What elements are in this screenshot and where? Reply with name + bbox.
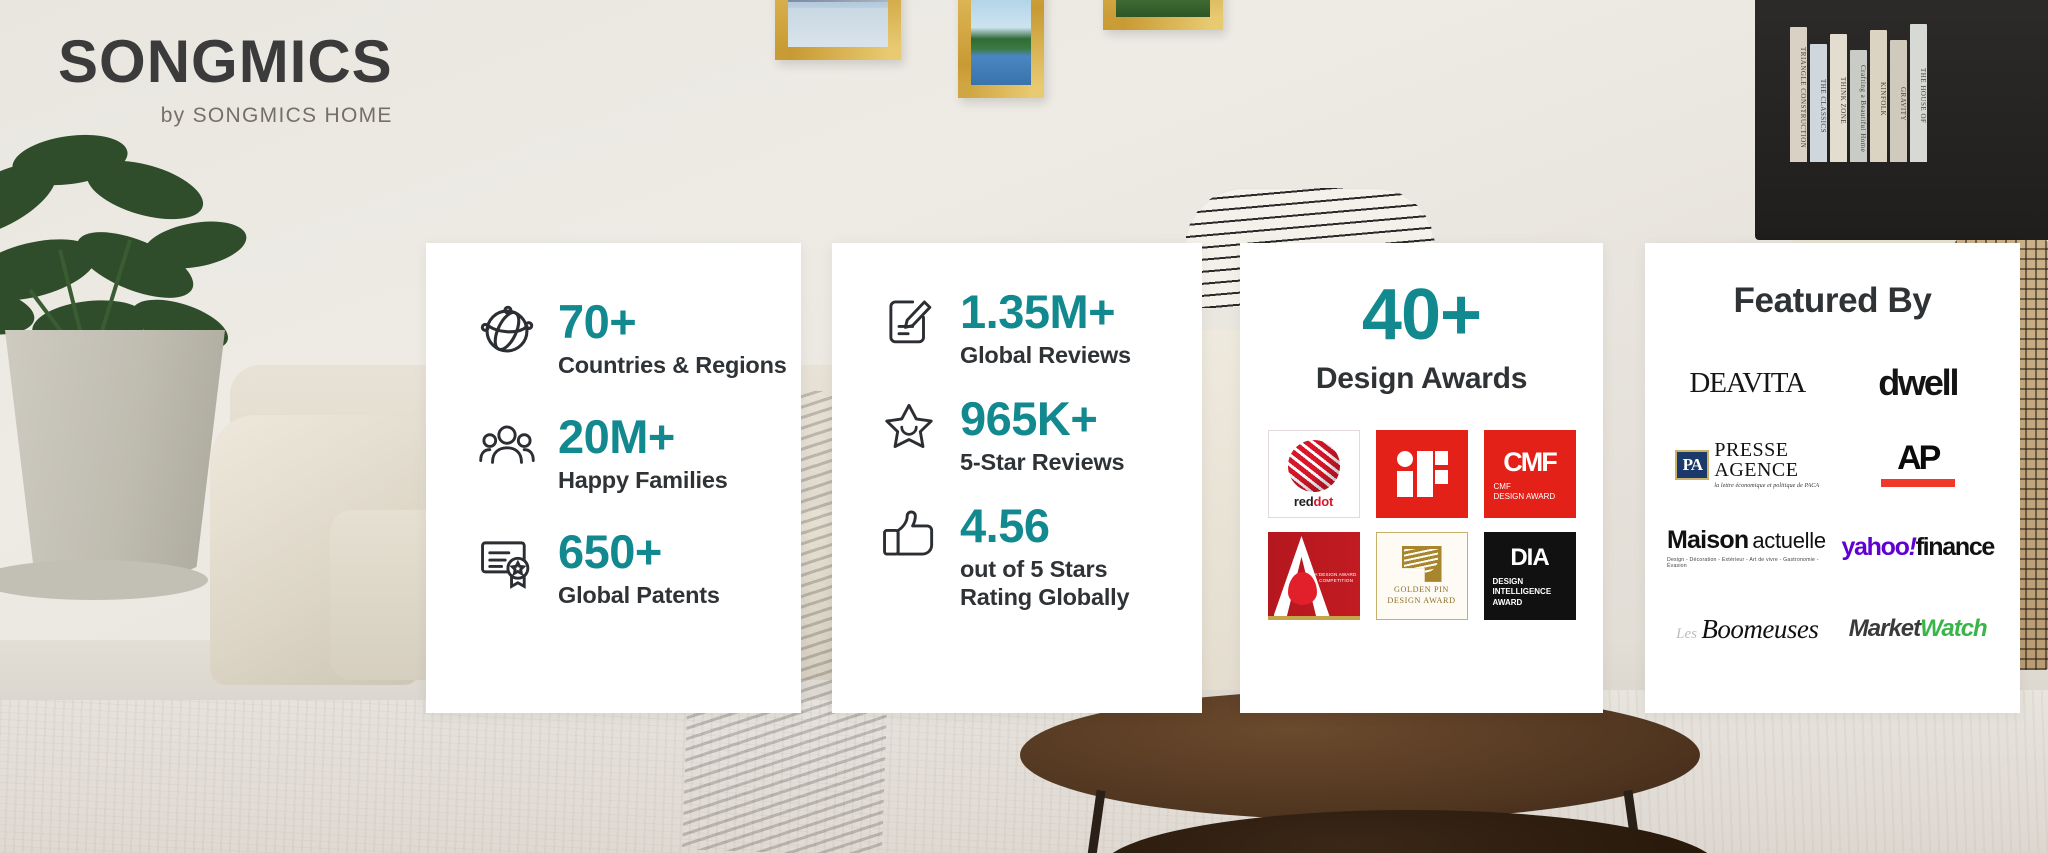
stat-text-families: 20M+ Happy Families: [558, 413, 728, 494]
award-logo-cmf: CMF CMF DESIGN AWARD: [1484, 430, 1576, 518]
maison-actuelle-wordmark: Maison actuelle: [1667, 526, 1828, 555]
featured-logo-marketwatch: MarketWatch: [1849, 601, 1987, 657]
featured-logo-ap: AP: [1881, 437, 1955, 493]
bookshelf-book: KINFOLK: [1870, 30, 1887, 162]
les-word: Les: [1676, 626, 1697, 642]
brand-logo-text: SONGMICS: [58, 32, 393, 92]
yahoo-finance-wordmark: yahoo!finance: [1841, 533, 1994, 562]
framed-seascape-photo: [788, 0, 888, 47]
bookshelf-book: THE CLASSICS: [1810, 44, 1827, 162]
stat-text-countries: 70+ Countries & Regions: [558, 298, 787, 379]
wall-picture-frame-2: [958, 0, 1044, 98]
boomeuses-word: Boomeuses: [1701, 614, 1818, 644]
golden-pin-caption: GOLDEN PIN DESIGN AWARD: [1387, 585, 1455, 606]
stat-label: Global Patents: [558, 581, 720, 609]
actuelle-word: actuelle: [1752, 528, 1825, 554]
award-logo-golden-pin: GOLDEN PIN DESIGN AWARD: [1376, 532, 1468, 620]
awards-logo-grid: reddot CMF CMF DESIGN AWARD: [1240, 430, 1603, 620]
cmf-subtitle: CMF DESIGN AWARD: [1484, 482, 1576, 502]
golden-pin-mark-icon: [1402, 546, 1442, 582]
award-logo-a-design: A'DESIGN AWARD & COMPETITION: [1268, 532, 1360, 620]
wall-picture-frame-3: [1103, 0, 1223, 30]
reddot-word-red: red: [1294, 494, 1314, 509]
songmics-stats-banner: TRIANGLE CONSTRUCTIONTHE CLASSICSTHINK Z…: [0, 0, 2048, 853]
presse-agence-lockup: PA PRESSE AGENCE la lettre économique et…: [1675, 441, 1819, 488]
featured-logo-grid: DEAVITA dwell PA PRESSE AGENCE la lettre…: [1645, 355, 2020, 657]
reddot-sphere-icon: [1288, 440, 1340, 492]
stat-label: Countries & Regions: [558, 351, 787, 379]
card-featured-by: Featured By DEAVITA dwell PA PRESSE AGEN…: [1645, 243, 2020, 713]
dia-line1: DESIGN: [1493, 577, 1524, 586]
golden-pin-line3: DESIGN: [1387, 596, 1421, 605]
framed-hillside-photo: [1116, 0, 1210, 17]
award-logo-if-design: [1376, 430, 1468, 518]
thumbs-up-icon: [880, 506, 938, 564]
stat-label-line2: Rating Globally: [960, 584, 1129, 610]
dia-subtitle: DESIGN INTELLIGENCE AWARD: [1484, 577, 1576, 608]
awards-heading-block: 40+ Design Awards: [1240, 243, 1603, 396]
card-company-stats: 70+ Countries & Regions: [426, 243, 801, 713]
dwell-wordmark: dwell: [1878, 362, 1957, 404]
a-design-line1: A'DESIGN AWARD: [1314, 572, 1356, 577]
deavita-wordmark: DEAVITA: [1689, 367, 1805, 400]
certificate-badge-icon: [478, 532, 536, 590]
stat-value: 965K+: [960, 395, 1124, 443]
stat-label: out of 5 Stars Rating Globally: [960, 555, 1129, 611]
if-mark-icon: [1397, 451, 1447, 497]
stat-label: Happy Families: [558, 466, 728, 494]
stat-item-families: 20M+ Happy Families: [478, 413, 801, 494]
wall-picture-frame-1: [775, 0, 901, 60]
brand-logo-tagline: by SONGMICS HOME: [58, 104, 393, 128]
presse-agence-text: PRESSE AGENCE la lettre économique et po…: [1714, 441, 1819, 488]
reddot-word-dot: dot: [1314, 494, 1334, 509]
stat-value: 70+: [558, 298, 787, 346]
marketwatch-wordmark: MarketWatch: [1849, 615, 1987, 643]
dia-line2: INTELLIGENCE: [1493, 587, 1552, 596]
golden-pin-line2: PIN: [1434, 585, 1449, 594]
stats-cards-row: 70+ Countries & Regions: [0, 243, 2048, 713]
stat-value: 20M+: [558, 413, 728, 461]
cmf-wordmark: CMF: [1503, 447, 1555, 478]
bookshelf-book: THINK ZONE: [1830, 34, 1847, 162]
watch-word: Watch: [1920, 615, 1987, 642]
a-design-caption: A'DESIGN AWARD & COMPETITION: [1314, 572, 1356, 584]
awards-count: 40+: [1240, 279, 1603, 351]
bookshelf-books: TRIANGLE CONSTRUCTIONTHE CLASSICSTHINK Z…: [1790, 22, 2015, 162]
stat-item-five-star-reviews: 965K+ 5-Star Reviews: [880, 395, 1202, 476]
cmf-line1: CMF: [1494, 482, 1511, 491]
stat-label: Global Reviews: [960, 341, 1131, 369]
bookshelf-book: THE HOUSE OF: [1910, 24, 1927, 162]
featured-logo-yahoo-finance: yahoo!finance: [1841, 519, 1994, 575]
stats-list-right: 1.35M+ Global Reviews 965K+ 5-Star Revie…: [832, 243, 1202, 612]
stat-value: 4.56: [960, 502, 1129, 550]
yahoo-exclamation: !: [1909, 533, 1916, 561]
maison-actuelle-lockup: Maison actuelle Design - Décoration - Ex…: [1667, 526, 1828, 569]
stat-text-patents: 650+ Global Patents: [558, 528, 720, 609]
stat-item-global-reviews: 1.35M+ Global Reviews: [880, 288, 1202, 369]
ap-red-bar: [1881, 479, 1955, 487]
market-word: Market: [1849, 615, 1920, 642]
awards-heading: Design Awards: [1240, 362, 1603, 396]
golden-pin-line1: GOLDEN: [1394, 585, 1431, 594]
globe-icon: [478, 302, 536, 360]
yahoo-word: yahoo: [1841, 533, 1908, 561]
dia-line3: AWARD: [1493, 598, 1523, 607]
stat-label-line1: out of 5 Stars: [960, 556, 1107, 582]
stat-item-rating: 4.56 out of 5 Stars Rating Globally: [880, 502, 1202, 611]
maison-word: Maison: [1667, 526, 1748, 555]
featured-logo-maison-actuelle: Maison actuelle Design - Décoration - Ex…: [1667, 519, 1828, 575]
featured-logo-presse-agence: PA PRESSE AGENCE la lettre économique et…: [1675, 437, 1819, 493]
maison-actuelle-tagline: Design - Décoration - Extérieur - Art de…: [1667, 557, 1828, 569]
stat-item-countries: 70+ Countries & Regions: [478, 298, 801, 379]
stat-value: 1.35M+: [960, 288, 1131, 336]
ap-wordmark: AP: [1881, 443, 1955, 474]
featured-heading: Featured By: [1645, 243, 2020, 321]
a-design-gold-bar: [1268, 616, 1360, 620]
smiling-star-icon: [880, 399, 938, 457]
ap-lockup: AP: [1881, 443, 1955, 487]
finance-word: finance: [1916, 533, 1994, 561]
bookshelf-book: GRAVITY: [1890, 40, 1907, 162]
card-design-awards: 40+ Design Awards reddot CMF: [1240, 243, 1603, 713]
bookshelf-book: TRIANGLE CONSTRUCTION: [1790, 27, 1807, 162]
framed-island-photo: [971, 0, 1031, 85]
les-boomeuses-lockup: Les Boomeuses: [1676, 614, 1818, 645]
review-pencil-icon: [880, 292, 938, 350]
presse-agence-line2: AGENCE: [1714, 461, 1819, 481]
featured-logo-les-boomeuses: Les Boomeuses: [1676, 601, 1818, 657]
bookshelf-book: Crafting a Beautiful Home: [1850, 50, 1867, 162]
a-design-line2: & COMPETITION: [1314, 578, 1353, 583]
stat-text-five-star-reviews: 965K+ 5-Star Reviews: [960, 395, 1124, 476]
cmf-line2: DESIGN AWARD: [1494, 492, 1556, 501]
stat-text-rating: 4.56 out of 5 Stars Rating Globally: [960, 502, 1129, 611]
dia-wordmark: DIA: [1510, 544, 1548, 572]
featured-logo-deavita: DEAVITA: [1689, 355, 1805, 411]
stat-value: 650+: [558, 528, 720, 576]
a-design-drop-icon: [1288, 572, 1317, 605]
award-logo-reddot: reddot: [1268, 430, 1360, 518]
people-group-icon: [478, 417, 536, 475]
presse-agence-badge: PA: [1675, 450, 1709, 480]
brand-logo[interactable]: SONGMICS by SONGMICS HOME: [58, 32, 393, 128]
award-logo-dia: DIA DESIGN INTELLIGENCE AWARD: [1484, 532, 1576, 620]
reddot-wordmark: reddot: [1294, 494, 1333, 509]
stat-label: 5-Star Reviews: [960, 448, 1124, 476]
presse-agence-tagline: la lettre économique et politique de PAC…: [1714, 483, 1819, 489]
stat-text-global-reviews: 1.35M+ Global Reviews: [960, 288, 1131, 369]
stat-item-patents: 650+ Global Patents: [478, 528, 801, 609]
golden-pin-line4: AWARD: [1423, 596, 1455, 605]
card-review-stats: 1.35M+ Global Reviews 965K+ 5-Star Revie…: [832, 243, 1202, 713]
stats-list-left: 70+ Countries & Regions: [426, 243, 801, 609]
featured-logo-dwell: dwell: [1878, 355, 1957, 411]
